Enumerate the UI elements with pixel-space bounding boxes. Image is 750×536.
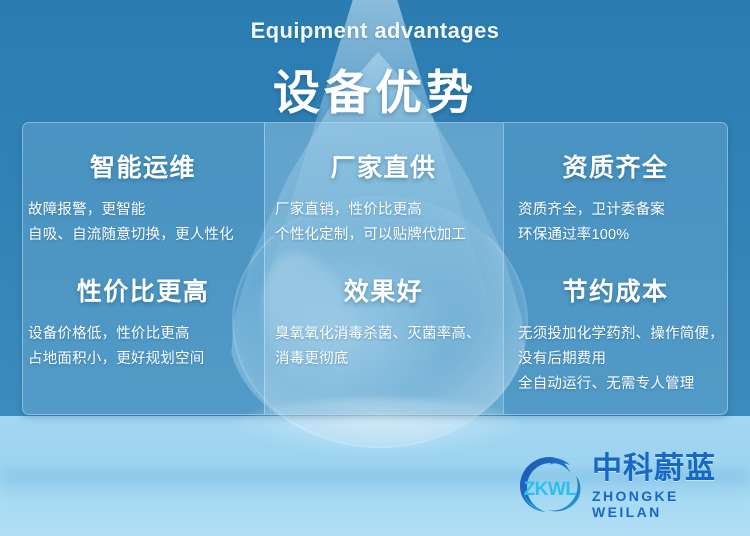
advantage-line: 无须投加化学药剂、操作简便，: [518, 322, 728, 347]
advantage-body: 设备价格低，性价比更高 占地面积小，更好规划空间: [22, 322, 264, 372]
advantage-cell-good-effect: 效果好 臭氧氧化消毒杀菌、灭菌率高、 消毒更彻底: [264, 272, 503, 372]
advantage-cell-factory-direct: 厂家直供 厂家直销，性价比更高 个性化定制，可以贴牌代加工: [264, 148, 503, 248]
advantage-line: 环保通过率100%: [518, 223, 728, 248]
advantage-cell-qualifications: 资质齐全 资质齐全，卫计委备案 环保通过率100%: [503, 148, 728, 248]
header-eyebrow: Equipment advantages: [0, 18, 750, 44]
advantage-heading: 节约成本: [503, 272, 728, 308]
logo-wordmark: 中科蔚蓝 ZHONGKE WEILAN: [592, 452, 734, 520]
advantage-line: 消毒更彻底: [275, 347, 503, 372]
advantage-line: 占地面积小，更好规划空间: [28, 347, 264, 372]
poster-header: Equipment advantages 设备优势: [0, 0, 750, 123]
svg-text:ZKWL: ZKWL: [524, 479, 578, 500]
advantage-heading: 智能运维: [22, 148, 264, 184]
advantage-body: 资质齐全，卫计委备案 环保通过率100%: [503, 198, 728, 248]
advantage-line: 设备价格低，性价比更高: [28, 322, 264, 347]
page-title: 设备优势: [0, 54, 750, 123]
logo-name-cn: 中科蔚蓝: [592, 452, 734, 486]
advantage-body: 故障报警，更智能 自吸、自流随意切换，更人性化: [22, 198, 264, 248]
advantage-line: 故障报警，更智能: [28, 198, 264, 223]
advantage-body: 厂家直销，性价比更高 个性化定制，可以贴牌代加工: [264, 198, 503, 248]
advantage-body: 无须投加化学药剂、操作简便， 没有后期费用 全自动运行、无需专人管理: [503, 322, 728, 397]
advantage-line: 个性化定制，可以贴牌代加工: [275, 223, 503, 248]
equipment-advantages-poster: Equipment advantages 设备优势 智能运维 故障报警，更智能 …: [0, 0, 750, 536]
advantage-line: 自吸、自流随意切换，更人性化: [28, 223, 264, 248]
advantage-heading: 厂家直供: [264, 148, 503, 184]
company-logo: ZKWL 中科蔚蓝 ZHONGKE WEILAN: [516, 448, 734, 520]
advantage-line: 没有后期费用: [518, 347, 728, 372]
advantage-heading: 性价比更高: [22, 272, 264, 308]
advantage-line: 资质齐全，卫计委备案: [518, 198, 728, 223]
advantage-line: 臭氧氧化消毒杀菌、灭菌率高、: [275, 322, 503, 347]
advantage-line: 全自动运行、无需专人管理: [518, 372, 728, 397]
advantage-line: 厂家直销，性价比更高: [275, 198, 503, 223]
advantage-body: 臭氧氧化消毒杀菌、灭菌率高、 消毒更彻底: [264, 322, 503, 372]
advantage-cell-smart-ops: 智能运维 故障报警，更智能 自吸、自流随意切换，更人性化: [22, 148, 264, 248]
advantage-heading: 资质齐全: [503, 148, 728, 184]
advantage-cell-cost-saving: 节约成本 无须投加化学药剂、操作简便， 没有后期费用 全自动运行、无需专人管理: [503, 272, 728, 397]
advantage-cell-value-for-money: 性价比更高 设备价格低，性价比更高 占地面积小，更好规划空间: [22, 272, 264, 372]
advantage-heading: 效果好: [264, 272, 503, 308]
logo-name-en: ZHONGKE WEILAN: [592, 488, 734, 520]
dolphin-wave-circle-icon: ZKWL: [516, 452, 584, 516]
